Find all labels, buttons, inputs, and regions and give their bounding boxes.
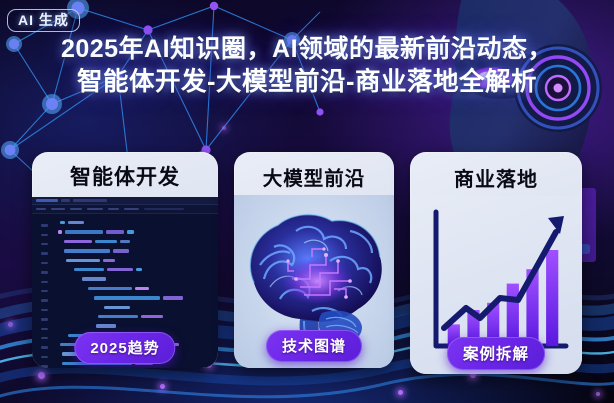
card-title: 商业落地 bbox=[410, 152, 582, 196]
card-visual: 2025趋势 bbox=[32, 197, 218, 368]
card-badge[interactable]: 技术图谱 bbox=[266, 330, 362, 362]
chart-bar bbox=[546, 250, 558, 346]
card-title: 智能体开发 bbox=[32, 152, 218, 197]
poster-canvas: AI 生成 2025年AI知识圈，AI领域的最新前沿动态， 智能体开发-大模型前… bbox=[0, 0, 614, 403]
particle-dot bbox=[398, 390, 403, 395]
particle-dot bbox=[160, 384, 165, 389]
feature-card-business-landing[interactable]: 商业落地 bbox=[410, 152, 582, 374]
card-title: 大模型前沿 bbox=[234, 152, 394, 195]
ai-generated-badge: AI 生成 bbox=[7, 9, 80, 32]
particle-dot bbox=[596, 392, 600, 396]
card-visual: 技术图谱 bbox=[234, 195, 394, 368]
feature-card-large-model-frontier[interactable]: 大模型前沿 bbox=[234, 152, 394, 368]
feature-card-agent-development[interactable]: 智能体开发 bbox=[32, 152, 218, 368]
editor-tab-bar bbox=[32, 197, 218, 205]
feature-card-row: 智能体开发 bbox=[0, 152, 614, 382]
headline-line-1: 2025年AI知识圈，AI领域的最新前沿动态， bbox=[18, 33, 596, 66]
particle-dot bbox=[222, 126, 226, 130]
editor-menu-bar bbox=[32, 205, 218, 214]
headline-line-2: 智能体开发-大模型前沿-商业落地全解析 bbox=[18, 66, 596, 100]
card-badge[interactable]: 2025趋势 bbox=[74, 332, 175, 364]
card-visual: 案例拆解 bbox=[410, 196, 582, 374]
page-title: 2025年AI知识圈，AI领域的最新前沿动态， 智能体开发-大模型前沿-商业落地… bbox=[0, 33, 614, 100]
card-badge[interactable]: 案例拆解 bbox=[447, 337, 545, 370]
